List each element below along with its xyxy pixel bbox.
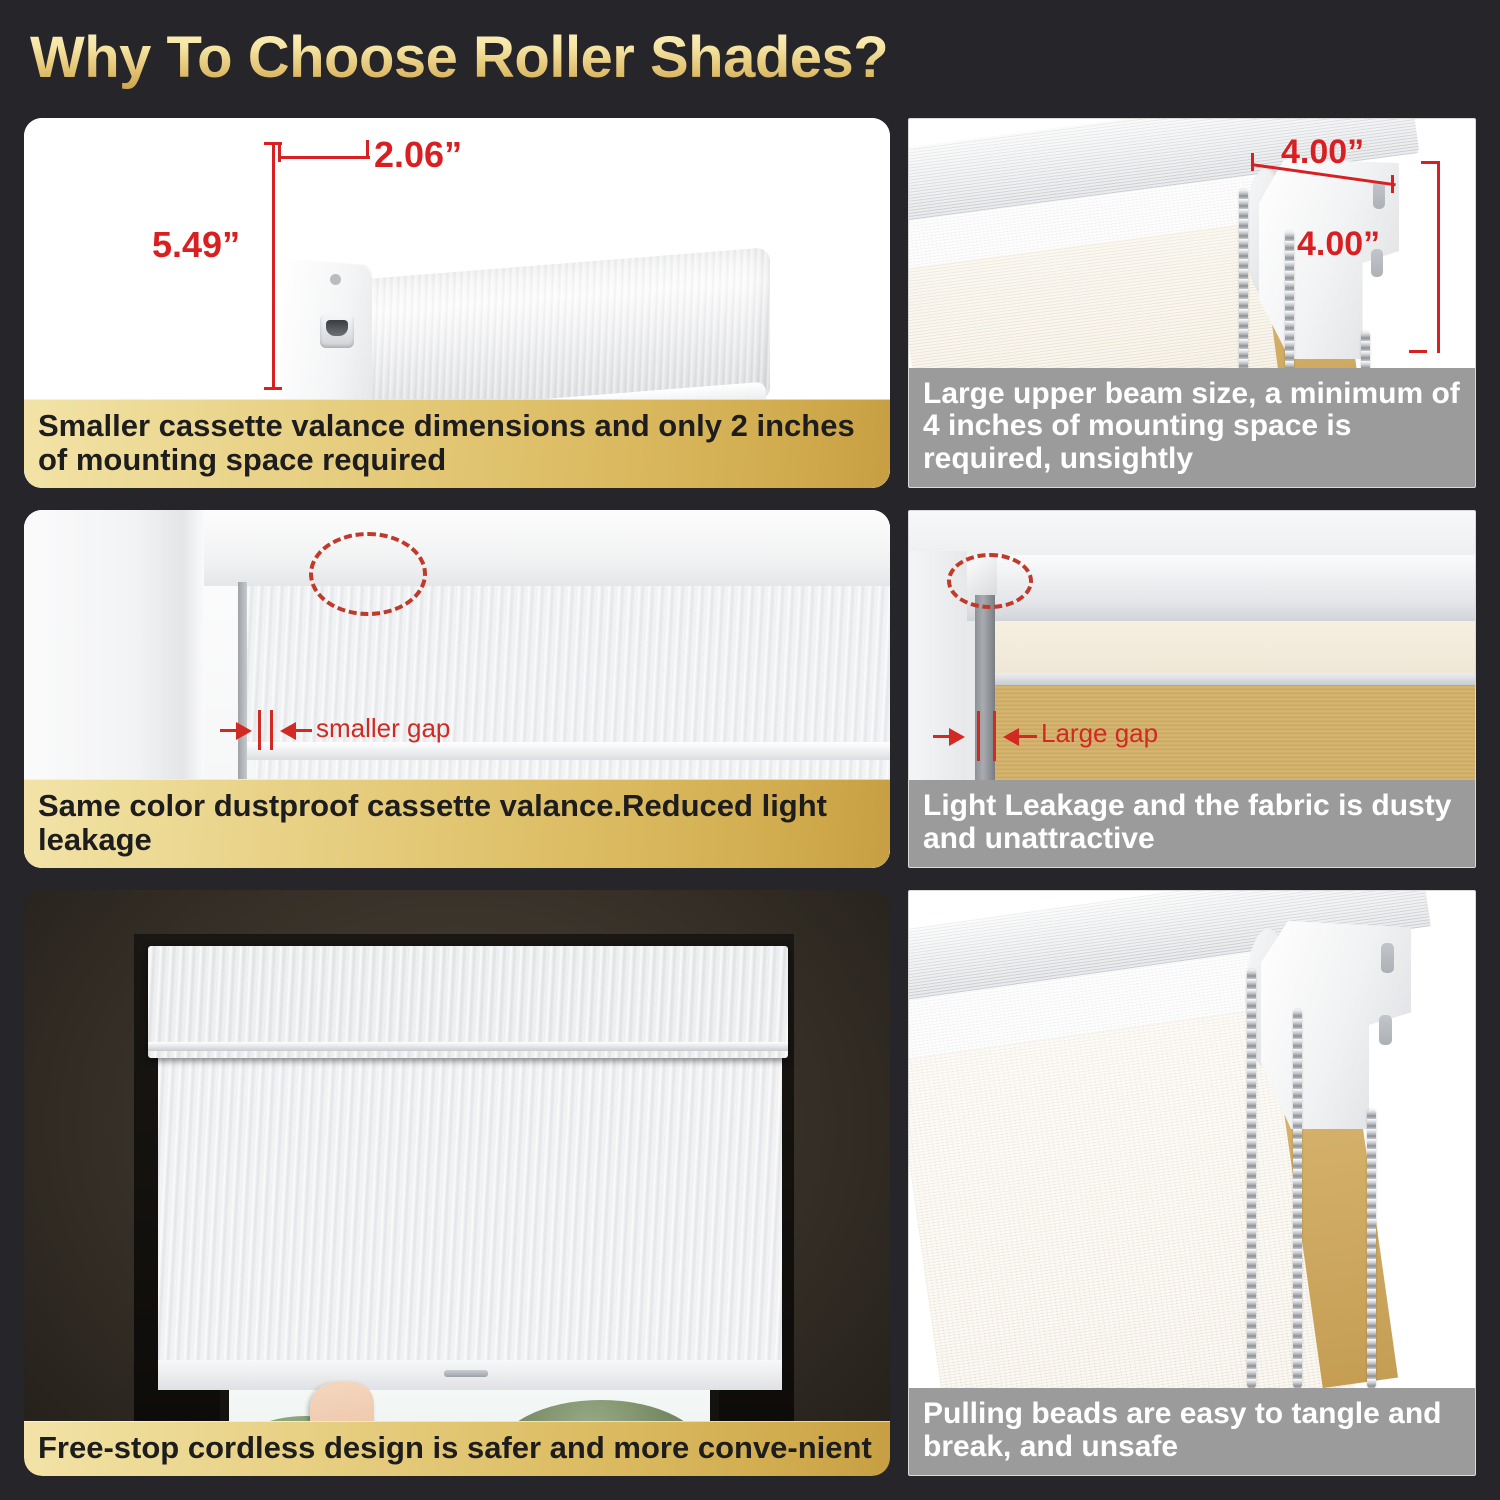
highlight-circle-large-gap (947, 553, 1033, 609)
panel-cassette-valance: 2.06” 5.49” Smaller cassette valance dim… (24, 118, 890, 488)
dimension-tick-beam-bottom (1409, 350, 1427, 353)
dimension-tick-height-top (264, 142, 282, 145)
dimension-label-beam-height: 4.00” (1297, 225, 1380, 264)
dimension-tick-depth-left (278, 144, 281, 162)
dimension-tick-width-left (1251, 153, 1254, 171)
gap-arrow-left-stem (220, 729, 240, 732)
panel-cordless-design: Free-stop cordless design is safer and m… (24, 890, 890, 1476)
page-title: Why To Choose Roller Shades? (30, 24, 888, 91)
gap-label-large: Large gap (1041, 718, 1158, 749)
gap-label-smaller: smaller gap (316, 713, 450, 744)
large-gap-tick-left (977, 711, 980, 761)
dimension-tick-beam-top (1421, 161, 1439, 164)
infographic-poster: Why To Choose Roller Shades? 2.06” 5.49”… (0, 0, 1500, 1500)
large-gap-arrow-right (1003, 728, 1019, 746)
panel-light-leakage: Large gap Light Leakage and the fabric i… (908, 510, 1476, 868)
bead-chain-right (1367, 1109, 1376, 1389)
panel-caption-large-beam: Large upper beam size, a minimum of 4 in… (909, 368, 1475, 487)
dimension-line-height (272, 142, 275, 390)
gap-arrow-right-stem (296, 729, 312, 732)
gap-tick-inner-left (258, 710, 261, 750)
panel-caption-dustproof-cassette: Same color dustproof cassette valance.Re… (24, 779, 890, 868)
gap-arrow-right (280, 722, 296, 740)
large-gap-arrow-right-stem (1019, 735, 1037, 738)
panel-caption-light-leakage: Light Leakage and the fabric is dusty an… (909, 780, 1475, 867)
bead-chain-left (1247, 969, 1256, 1389)
dimension-label-height: 5.49” (152, 224, 240, 266)
panel-caption-cordless-design: Free-stop cordless design is safer and m… (24, 1421, 890, 1476)
large-gap-arrow-left-stem (933, 735, 953, 738)
dimension-tick-height-bottom (264, 387, 282, 390)
panel-dustproof-cassette: smaller gap Same color dustproof cassett… (24, 510, 890, 868)
panel-caption-pulling-beads: Pulling beads are easy to tangle and bre… (909, 1388, 1475, 1475)
panel-caption-cassette-valance: Smaller cassette valance dimensions and … (24, 399, 890, 488)
product-photo-cordless-room (24, 890, 890, 1476)
highlight-circle-gap (309, 532, 427, 616)
dimension-line-beam-height (1437, 161, 1440, 353)
panel-pulling-beads: Pulling beads are easy to tangle and bre… (908, 890, 1476, 1476)
dimension-label-depth: 2.06” (374, 134, 462, 176)
bead-chain-middle (1293, 1009, 1302, 1389)
dimension-line-depth (278, 156, 370, 159)
large-gap-tick-right (993, 711, 996, 761)
dimension-label-width: 4.00” (1281, 133, 1364, 172)
panel-large-upper-beam: 4.00” 4.00” Large upper beam size, a min… (908, 118, 1476, 488)
gap-tick-inner-right (270, 710, 273, 750)
